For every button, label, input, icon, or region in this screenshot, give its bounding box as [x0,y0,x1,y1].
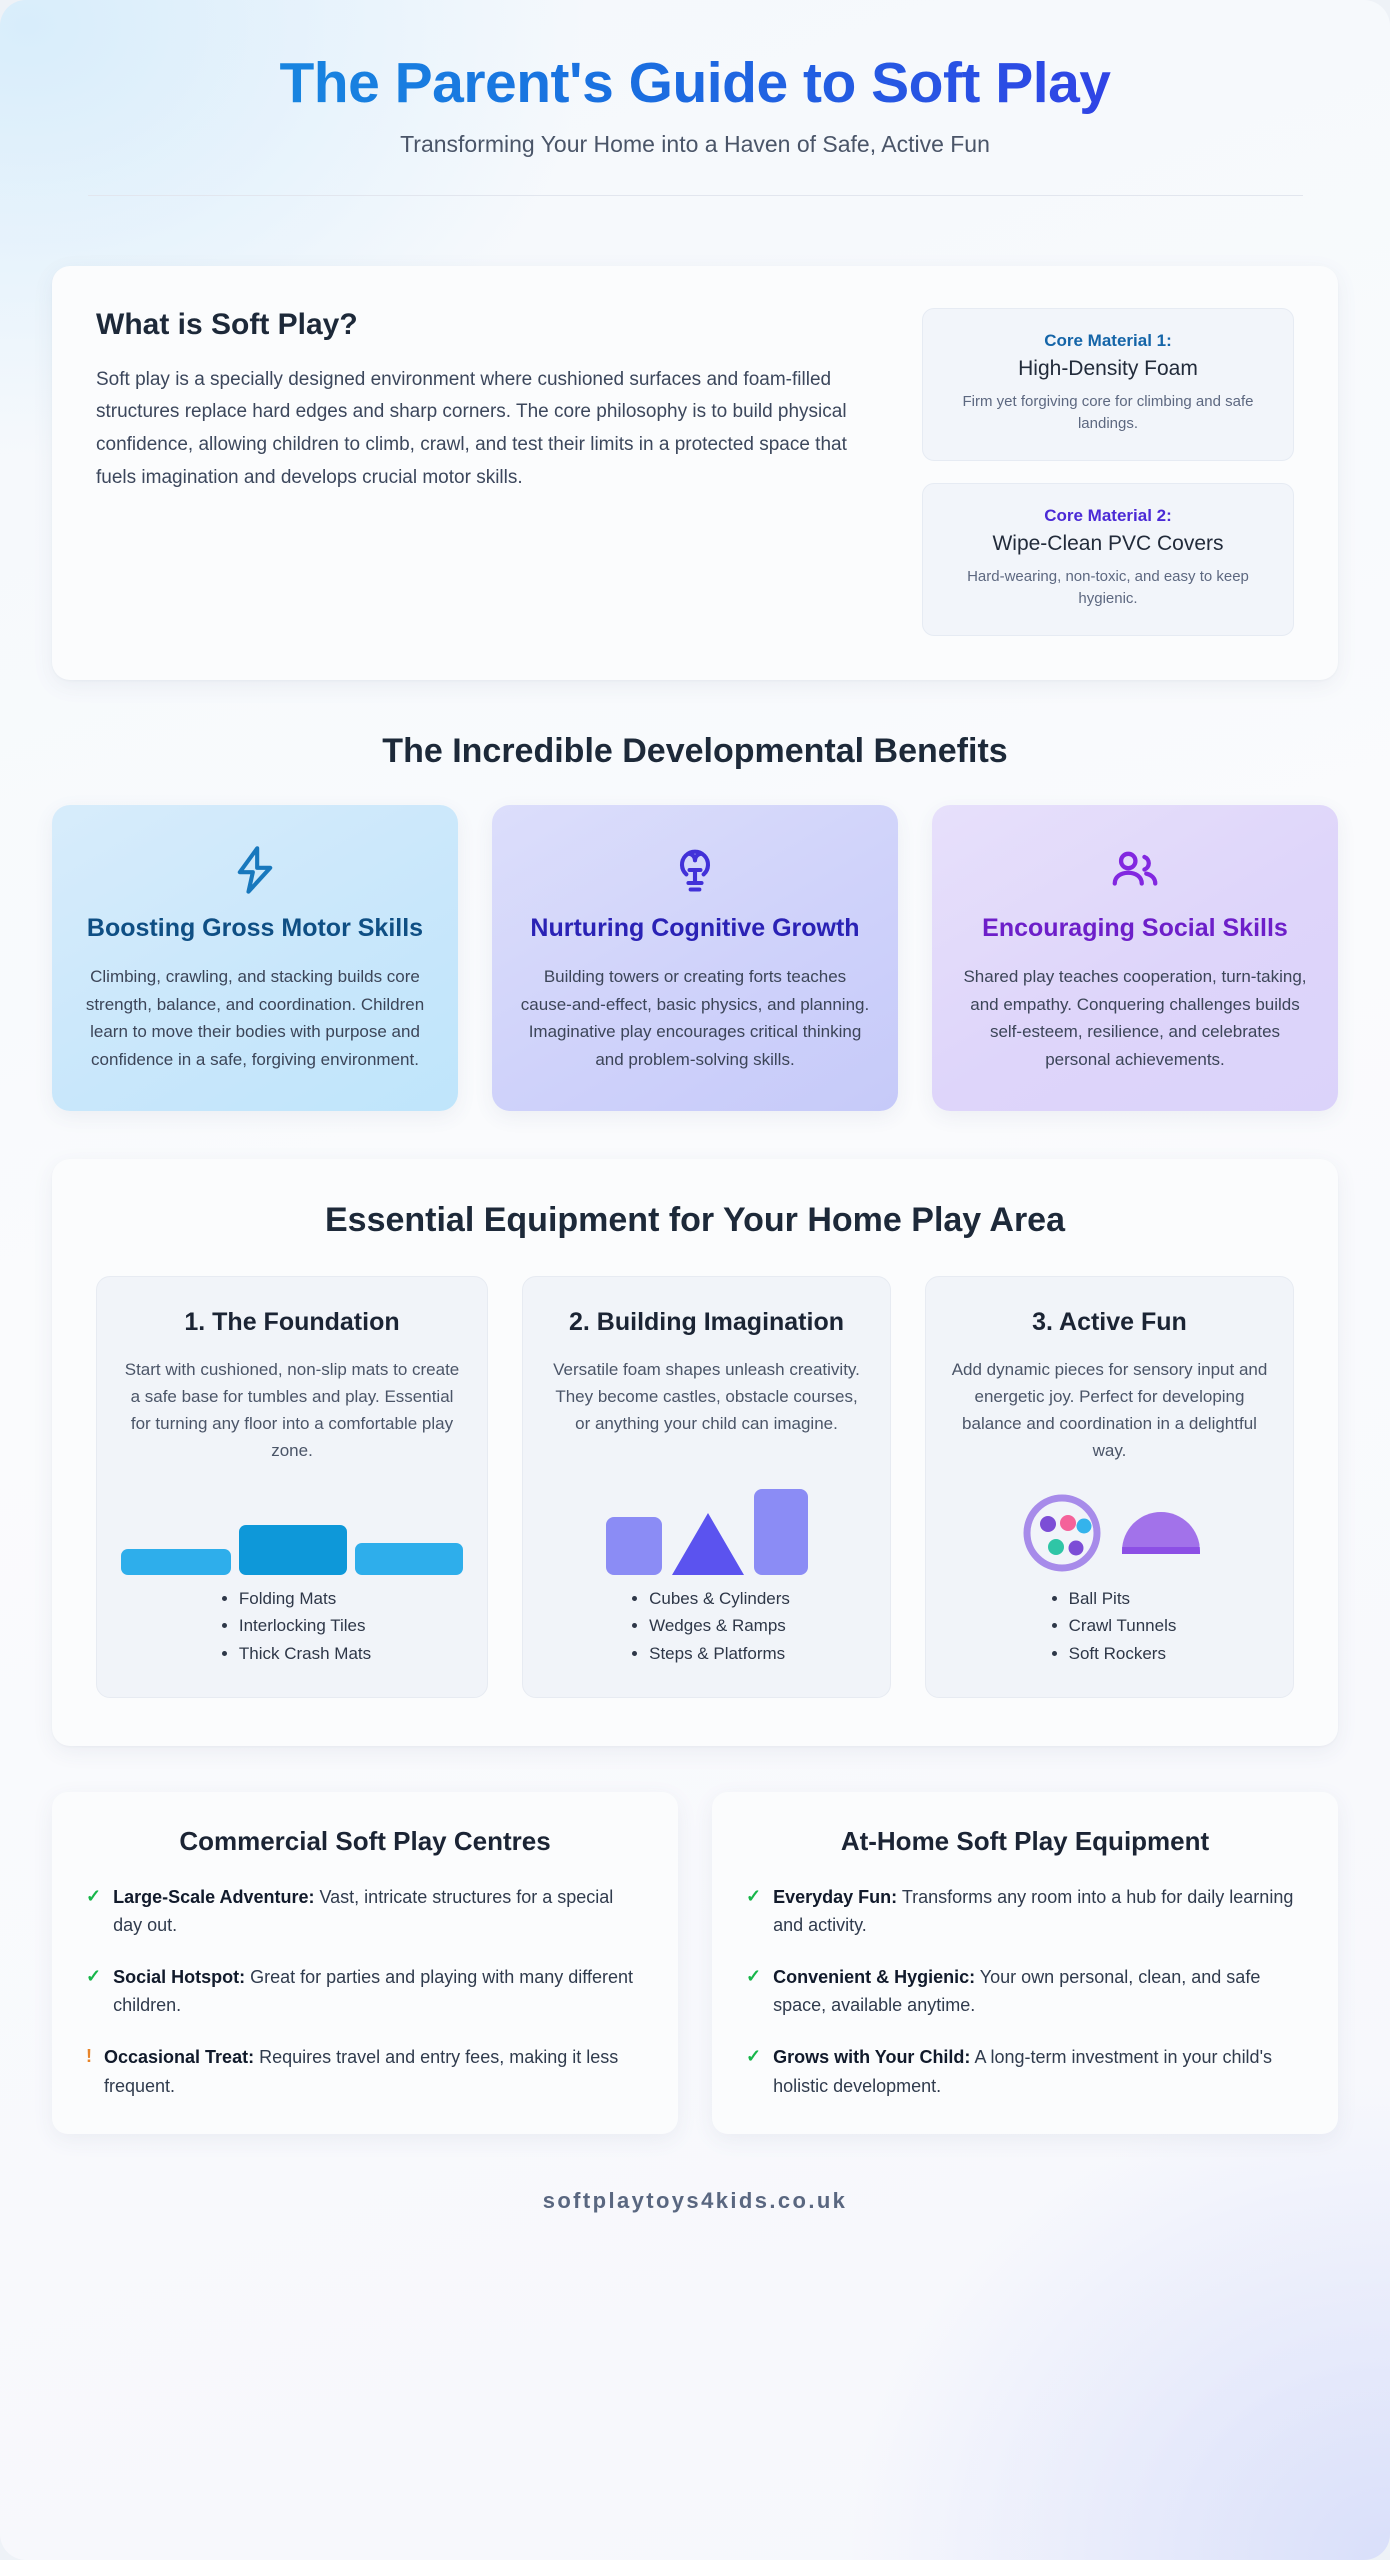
core-material-title: Wipe-Clean PVC Covers [943,532,1273,556]
equipment-item-list: Folding Mats Interlocking Tiles Thick Cr… [213,1585,371,1668]
mat-bar-left [121,1549,231,1575]
list-item: Steps & Platforms [649,1640,790,1668]
core-material-title: High-Density Foam [943,357,1273,381]
comparison-heading: Commercial Soft Play Centres [86,1826,644,1857]
check-icon: ✓ [746,2043,761,2071]
equipment-row: 1. The Foundation Start with cushioned, … [96,1276,1294,1698]
list-item: Interlocking Tiles [239,1612,371,1640]
list-item: Cubes & Cylinders [649,1585,790,1613]
intro-paragraph: Soft play is a specially designed enviro… [96,364,878,495]
equipment-card-foundation: 1. The Foundation Start with cushioned, … [96,1276,488,1698]
list-item: Folding Mats [239,1585,371,1613]
benefit-desc: Building towers or creating forts teache… [520,963,870,1073]
benefits-heading: The Incredible Developmental Benefits [52,732,1338,771]
core-materials-column: Core Material 1: High-Density Foam Firm … [922,308,1294,636]
benefit-title: Boosting Gross Motor Skills [80,913,430,944]
equipment-card-title: 3. Active Fun [950,1307,1269,1338]
comparison-item-label: Convenient & Hygienic: [773,1967,975,1987]
intro-heading: What is Soft Play? [96,308,878,342]
intro-text-column: What is Soft Play? Soft play is a specia… [96,308,878,495]
soft-rocker-icon [1122,1512,1200,1554]
benefit-desc: Climbing, crawling, and stacking builds … [80,963,430,1073]
lightning-bolt-icon [80,841,430,899]
page-header: The Parent's Guide to Soft Play Transfor… [52,0,1338,230]
comparison-item-label: Social Hotspot: [113,1967,245,1987]
comparison-card-at-home: At-Home Soft Play Equipment ✓ Everyday F… [712,1792,1338,2133]
header-divider [88,195,1303,196]
core-material-kicker: Core Material 1: [943,331,1273,351]
equipment-card-title: 1. The Foundation [121,1307,463,1338]
foam-cube-shape [606,1517,662,1575]
equipment-item-list: Ball Pits Crawl Tunnels Soft Rockers [1043,1585,1177,1668]
core-material-desc: Hard-wearing, non-toxic, and easy to kee… [943,566,1273,611]
comparison-item-label: Everyday Fun: [773,1887,897,1907]
equipment-card-desc: Versatile foam shapes unleash creativity… [547,1356,866,1438]
core-material-card-2: Core Material 2: Wipe-Clean PVC Covers H… [922,483,1294,636]
equipment-card-imagination: 2. Building Imagination Versatile foam s… [522,1276,891,1698]
comparison-item-label: Large-Scale Adventure: [113,1887,314,1907]
equipment-card-desc: Start with cushioned, non-slip mats to c… [121,1356,463,1465]
benefit-card-motor-skills: Boosting Gross Motor Skills Climbing, cr… [52,805,458,1112]
equipment-heading: Essential Equipment for Your Home Play A… [96,1201,1294,1240]
comparison-row: Commercial Soft Play Centres ✓ Large-Sca… [52,1792,1338,2133]
comparison-heading: At-Home Soft Play Equipment [746,1826,1304,1857]
infographic-page: The Parent's Guide to Soft Play Transfor… [0,0,1390,2560]
comparison-card-commercial: Commercial Soft Play Centres ✓ Large-Sca… [52,1792,678,2133]
comparison-item-text: Social Hotspot: Great for parties and pl… [113,1963,644,2019]
mat-bar-center [239,1525,347,1575]
benefits-row: Boosting Gross Motor Skills Climbing, cr… [52,805,1338,1112]
comparison-item-label: Grows with Your Child: [773,2047,970,2067]
equipment-card-active-fun: 3. Active Fun Add dynamic pieces for sen… [925,1276,1294,1698]
lightbulb-icon [520,841,870,899]
benefit-card-cognitive-growth: Nurturing Cognitive Growth Building towe… [492,805,898,1112]
equipment-card-desc: Add dynamic pieces for sensory input and… [950,1356,1269,1465]
comparison-item-text: Grows with Your Child: A long-term inves… [773,2043,1304,2099]
benefit-title: Encouraging Social Skills [960,913,1310,944]
list-item: Ball Pits [1069,1585,1177,1613]
list-item: Wedges & Ramps [649,1612,790,1640]
comparison-item-text: Convenient & Hygienic: Your own personal… [773,1963,1304,2019]
benefit-card-social-skills: Encouraging Social Skills Shared play te… [932,805,1338,1112]
equipment-card-title: 2. Building Imagination [547,1307,866,1338]
ball-pit-rocker-graphic [950,1465,1269,1585]
foam-platform-shape [754,1489,808,1575]
list-item: ! Occasional Treat: Requires travel and … [86,2043,644,2099]
list-item: ✓ Convenient & Hygienic: Your own person… [746,1963,1304,2019]
check-icon: ✓ [86,1963,101,1991]
page-subtitle: Transforming Your Home into a Haven of S… [52,131,1338,158]
site-footer: softplaytoys4kids.co.uk [52,2134,1338,2270]
users-icon [960,841,1310,899]
page-title: The Parent's Guide to Soft Play [52,52,1338,115]
mats-graphic [121,1465,463,1585]
foam-wedge-shape [672,1513,744,1575]
mat-bar-right [355,1543,463,1575]
check-icon: ✓ [86,1883,101,1911]
core-material-kicker: Core Material 2: [943,506,1273,526]
benefit-title: Nurturing Cognitive Growth [520,913,870,944]
check-icon: ✓ [746,1883,761,1911]
benefit-desc: Shared play teaches cooperation, turn-ta… [960,963,1310,1073]
ball-pit-icon [1020,1491,1104,1575]
equipment-item-list: Cubes & Cylinders Wedges & Ramps Steps &… [623,1585,790,1668]
list-item: ✓ Large-Scale Adventure: Vast, intricate… [86,1883,644,1939]
list-item: ✓ Everyday Fun: Transforms any room into… [746,1883,1304,1939]
list-item: Crawl Tunnels [1069,1612,1177,1640]
intro-section: What is Soft Play? Soft play is a specia… [52,266,1338,680]
equipment-section: Essential Equipment for Your Home Play A… [52,1159,1338,1746]
list-item: ✓ Grows with Your Child: A long-term inv… [746,2043,1304,2099]
foam-shapes-graphic [547,1437,866,1584]
list-item: ✓ Social Hotspot: Great for parties and … [86,1963,644,2019]
comparison-item-text: Large-Scale Adventure: Vast, intricate s… [113,1883,644,1939]
comparison-item-text: Occasional Treat: Requires travel and en… [104,2043,644,2099]
core-material-card-1: Core Material 1: High-Density Foam Firm … [922,308,1294,461]
comparison-item-label: Occasional Treat: [104,2047,254,2067]
core-material-desc: Firm yet forgiving core for climbing and… [943,391,1273,436]
list-item: Thick Crash Mats [239,1640,371,1668]
exclamation-icon: ! [86,2043,92,2071]
check-icon: ✓ [746,1963,761,1991]
list-item: Soft Rockers [1069,1640,1177,1668]
comparison-item-text: Everyday Fun: Transforms any room into a… [773,1883,1304,1939]
